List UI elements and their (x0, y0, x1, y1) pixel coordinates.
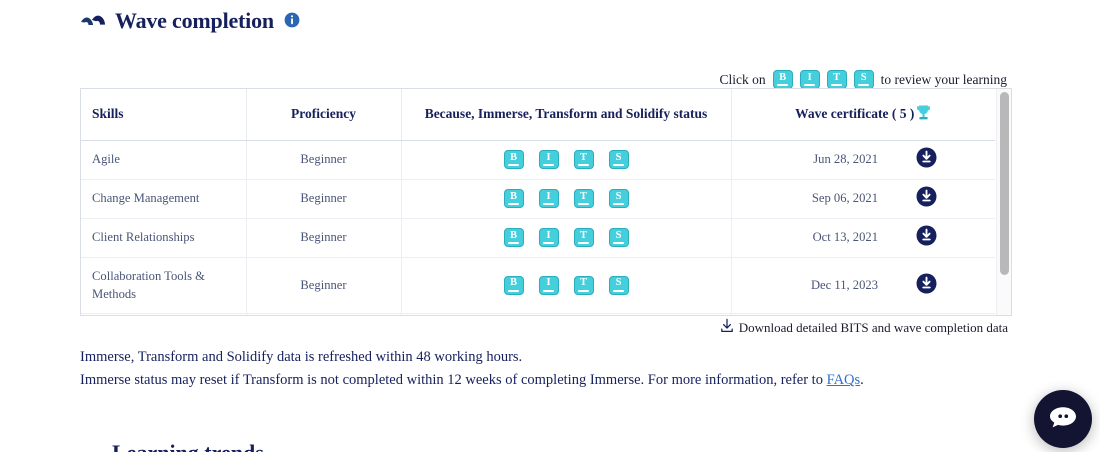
row-badge-i-label: I (546, 153, 550, 164)
table-body: Agile Beginner B I T S J (81, 140, 995, 315)
row-badge-t[interactable]: T (574, 189, 594, 208)
cell-skill: Connection Management (81, 313, 246, 315)
note-line-refresh: Immerse, Transform and Solidify data is … (80, 346, 980, 369)
cell-proficiency: Beginner (246, 140, 401, 179)
row-badge-t[interactable]: T (574, 150, 594, 169)
legend-badge-t[interactable]: T (827, 70, 847, 89)
cell-skill: Agile (81, 140, 246, 179)
badge-underline (613, 203, 624, 205)
cell-wave-certificate: Jun 28, 2021 (731, 140, 995, 179)
legend-badge-s[interactable]: S (854, 70, 874, 89)
row-badge-b[interactable]: B (504, 189, 524, 208)
row-badge-i-label: I (546, 231, 550, 242)
table-scroll-area[interactable]: Skills Proficiency Because, Immerse, Tra… (81, 89, 1011, 315)
certificate-date: Jun 28, 2021 (813, 152, 878, 167)
legend-row: Click on B I T S to review your learning (720, 70, 1007, 89)
row-badge-i-label: I (546, 278, 550, 289)
trophy-icon (916, 104, 931, 125)
legend-badge-s-label: S (861, 73, 867, 84)
row-badge-t[interactable]: T (574, 228, 594, 247)
certificate-date: Dec 11, 2023 (811, 278, 878, 293)
note-reset-text-before: Immerse status may reset if Transform is… (80, 372, 827, 388)
table-scrollbar-thumb[interactable] (1000, 92, 1009, 275)
row-badge-t-label: T (580, 278, 587, 289)
note-reset-text-after: . (860, 372, 864, 388)
cell-proficiency: Beginner (246, 257, 401, 313)
download-circle-icon[interactable] (916, 147, 937, 172)
row-badge-s[interactable]: S (609, 228, 629, 247)
cell-wave-certificate: Dec 11, 2023 (731, 257, 995, 313)
row-badge-s[interactable]: S (609, 276, 629, 295)
row-badge-t-label: T (580, 192, 587, 203)
badge-underline (578, 242, 589, 244)
legend-suffix: to review your learning (881, 72, 1007, 88)
cell-bits-status: B I T S (401, 257, 731, 313)
column-header-wave-certificate-label: Wave certificate ( 5 ) (795, 106, 914, 122)
row-badge-s-label: S (616, 153, 622, 164)
badge-underline (543, 164, 554, 166)
page-title-row: Wave completion (80, 8, 300, 34)
badge-underline (578, 164, 589, 166)
note-line-reset: Immerse status may reset if Transform is… (80, 369, 980, 392)
page-title: Wave completion (115, 8, 274, 34)
next-section-title: Learning trends (112, 440, 264, 452)
badge-underline (858, 84, 869, 86)
column-header-wave-certificate[interactable]: Wave certificate ( 5 ) (731, 89, 995, 140)
cell-wave-certificate: Sep 06, 2021 (731, 179, 995, 218)
table-row[interactable]: Collaboration Tools & Methods Beginner B… (81, 257, 995, 313)
certificate-date: Sep 06, 2021 (812, 191, 878, 206)
row-badge-t-label: T (580, 231, 587, 242)
info-icon[interactable] (284, 12, 300, 33)
download-circle-icon[interactable] (916, 186, 937, 211)
badge-underline (777, 84, 788, 86)
cell-bits-status: B I T S (401, 179, 731, 218)
row-badge-s[interactable]: S (609, 189, 629, 208)
badge-underline (831, 84, 842, 86)
legend-badge-b-label: B (779, 73, 786, 84)
cell-skill: Collaboration Tools & Methods (81, 257, 246, 313)
row-badge-s-label: S (616, 192, 622, 203)
badge-underline (543, 203, 554, 205)
table-row[interactable]: Connection Management Intermediate B I T… (81, 313, 995, 315)
table-row[interactable]: Client Relationships Beginner B I T S (81, 218, 995, 257)
row-badge-s-label: S (616, 278, 622, 289)
cell-skill: Client Relationships (81, 218, 246, 257)
column-header-bits-status[interactable]: Because, Immerse, Transform and Solidify… (401, 89, 731, 140)
wave-icon (80, 9, 106, 34)
column-header-skills[interactable]: Skills (81, 89, 246, 140)
legend-prefix: Click on (720, 72, 766, 88)
row-badge-i[interactable]: I (539, 189, 559, 208)
legend-badge-i[interactable]: I (800, 70, 820, 89)
wave-completion-page: Wave completion Click on B I T S to r (0, 0, 1100, 452)
row-badge-b[interactable]: B (504, 276, 524, 295)
row-badge-s-label: S (616, 231, 622, 242)
cell-skill: Change Management (81, 179, 246, 218)
row-badge-b-label: B (510, 192, 517, 203)
row-badge-i[interactable]: I (539, 228, 559, 247)
table-row[interactable]: Change Management Beginner B I T S (81, 179, 995, 218)
cell-bits-status: B I T S (401, 218, 731, 257)
legend-badge-b[interactable]: B (773, 70, 793, 89)
row-badge-b-label: B (510, 231, 517, 242)
download-detailed-data-link[interactable]: Download detailed BITS and wave completi… (720, 318, 1008, 337)
badge-underline (508, 290, 519, 292)
cell-proficiency: Intermediate (246, 313, 401, 315)
chat-bubble-icon (1048, 404, 1078, 435)
row-badge-b[interactable]: B (504, 150, 524, 169)
badge-underline (613, 164, 624, 166)
table-head: Skills Proficiency Because, Immerse, Tra… (81, 89, 995, 140)
faqs-link[interactable]: FAQs (827, 372, 861, 388)
row-badge-i-label: I (546, 192, 550, 203)
cell-proficiency: Beginner (246, 179, 401, 218)
chat-widget-button[interactable] (1034, 390, 1092, 448)
legend-badge-t-label: T (833, 73, 840, 84)
table-header-row: Skills Proficiency Because, Immerse, Tra… (81, 89, 995, 140)
badge-underline (613, 290, 624, 292)
cell-wave-certificate: Oct 13, 2021 (731, 218, 995, 257)
row-badge-i[interactable]: I (539, 150, 559, 169)
badge-underline (543, 242, 554, 244)
row-badge-i[interactable]: I (539, 276, 559, 295)
cell-proficiency: Beginner (246, 218, 401, 257)
table-vertical-scrollbar[interactable] (996, 89, 1011, 315)
badge-underline (508, 242, 519, 244)
notes-block: Immerse, Transform and Solidify data is … (80, 346, 980, 393)
legend-badge-i-label: I (808, 73, 812, 84)
download-arrow-icon (720, 318, 734, 337)
badge-underline (508, 164, 519, 166)
row-badge-b-label: B (510, 153, 517, 164)
download-circle-icon[interactable] (916, 225, 937, 250)
download-detailed-data-label: Download detailed BITS and wave completi… (739, 320, 1008, 336)
cell-bits-status: B I T S (401, 313, 731, 315)
badge-underline (578, 203, 589, 205)
badge-underline (613, 242, 624, 244)
row-badge-b-label: B (510, 278, 517, 289)
wave-completion-table: Skills Proficiency Because, Immerse, Tra… (81, 89, 995, 315)
badge-underline (804, 84, 815, 86)
column-header-proficiency[interactable]: Proficiency (246, 89, 401, 140)
badge-underline (543, 290, 554, 292)
download-circle-icon[interactable] (916, 273, 937, 298)
badge-underline (578, 290, 589, 292)
cell-wave-certificate: Jan 26, 2024 (731, 313, 995, 315)
row-badge-t[interactable]: T (574, 276, 594, 295)
certificate-date: Oct 13, 2021 (813, 230, 878, 245)
row-badge-t-label: T (580, 153, 587, 164)
cell-bits-status: B I T S (401, 140, 731, 179)
badge-underline (508, 203, 519, 205)
row-badge-s[interactable]: S (609, 150, 629, 169)
wave-completion-table-wrapper: Skills Proficiency Because, Immerse, Tra… (80, 88, 1012, 316)
row-badge-b[interactable]: B (504, 228, 524, 247)
table-row[interactable]: Agile Beginner B I T S J (81, 140, 995, 179)
